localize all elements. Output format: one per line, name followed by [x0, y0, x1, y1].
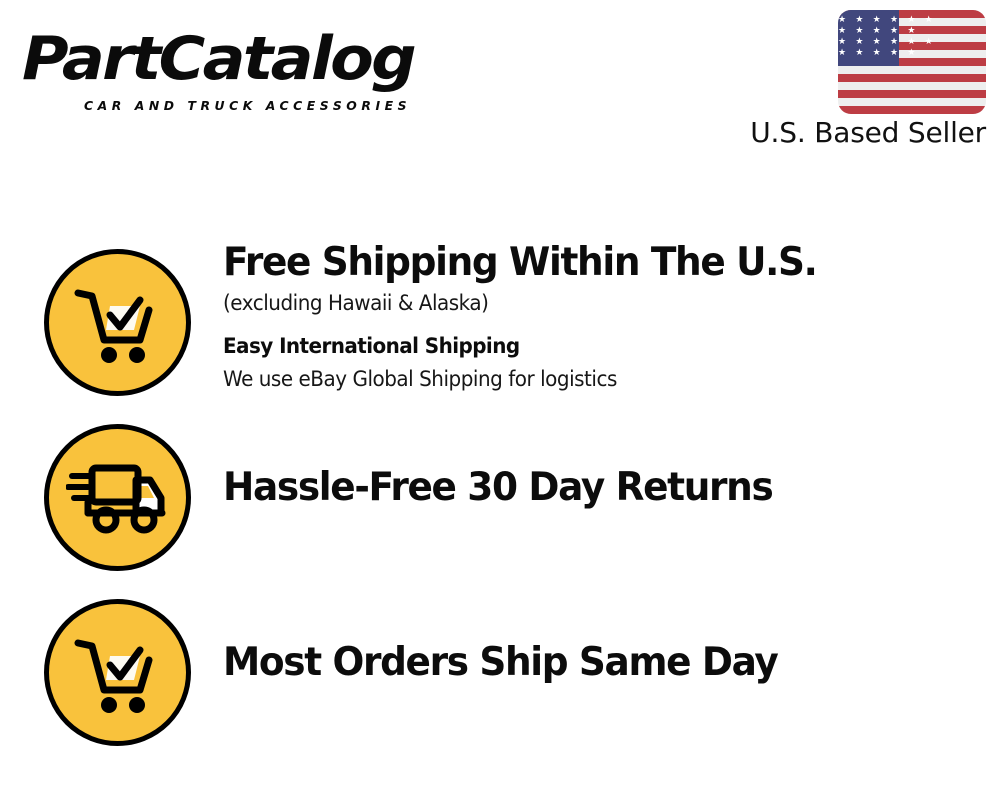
feature-text-block: Hassle-Free 30 Day Returns: [223, 465, 983, 511]
feature-text-block: Free Shipping Within The U.S. (excluding…: [223, 240, 983, 396]
feature-title: Free Shipping Within The U.S.: [223, 240, 953, 286]
feature-title: Hassle-Free 30 Day Returns: [223, 465, 953, 511]
feature-subtitle: Easy International Shipping: [223, 330, 945, 362]
feature-title: Most Orders Ship Same Day: [223, 640, 953, 686]
brand-tagline: CAR AND TRUCK ACCESSORIES: [84, 98, 411, 113]
shopping-cart-check-icon: [44, 249, 191, 396]
us-flag-icon: ★ ★ ★ ★ ★ ★ ★ ★ ★ ★ ★ ★ ★ ★ ★ ★ ★ ★ ★ ★ …: [838, 10, 986, 114]
feature-row: Most Orders Ship Same Day: [0, 590, 1000, 765]
us-flag-graphic: ★ ★ ★ ★ ★ ★ ★ ★ ★ ★ ★ ★ ★ ★ ★ ★ ★ ★ ★ ★ …: [838, 10, 986, 114]
brand-wordmark: PartCatalog: [22, 24, 414, 94]
feature-subnote: We use eBay Global Shipping for logistic…: [223, 362, 945, 396]
flag-stripe: [838, 74, 986, 82]
flag-star-row: ★ ★ ★ ★ ★ ★: [838, 16, 898, 25]
shopping-cart-check-icon: [44, 599, 191, 746]
delivery-truck-icon: [44, 424, 191, 571]
feature-row: Hassle-Free 30 Day Returns: [0, 415, 1000, 590]
feature-row: Free Shipping Within The U.S. (excluding…: [0, 240, 1000, 415]
flag-stripe: [838, 90, 986, 98]
flag-star-row: ★ ★ ★ ★ ★: [838, 27, 898, 36]
feature-text-block: Most Orders Ship Same Day: [223, 640, 983, 686]
us-based-seller-label: U.S. Based Seller: [750, 116, 986, 149]
spacer: [223, 320, 983, 330]
flag-star-row: ★ ★ ★ ★ ★ ★: [838, 38, 898, 47]
page-header: PartCatalog CAR AND TRUCK ACCESSORIES ★ …: [0, 0, 1000, 170]
partcatalog-logo[interactable]: PartCatalog CAR AND TRUCK ACCESSORIES: [22, 24, 492, 112]
flag-stripe: [838, 106, 986, 114]
feature-note: (excluding Hawaii & Alaska): [223, 286, 945, 320]
flag-star-row: ★ ★ ★ ★ ★: [838, 49, 898, 58]
